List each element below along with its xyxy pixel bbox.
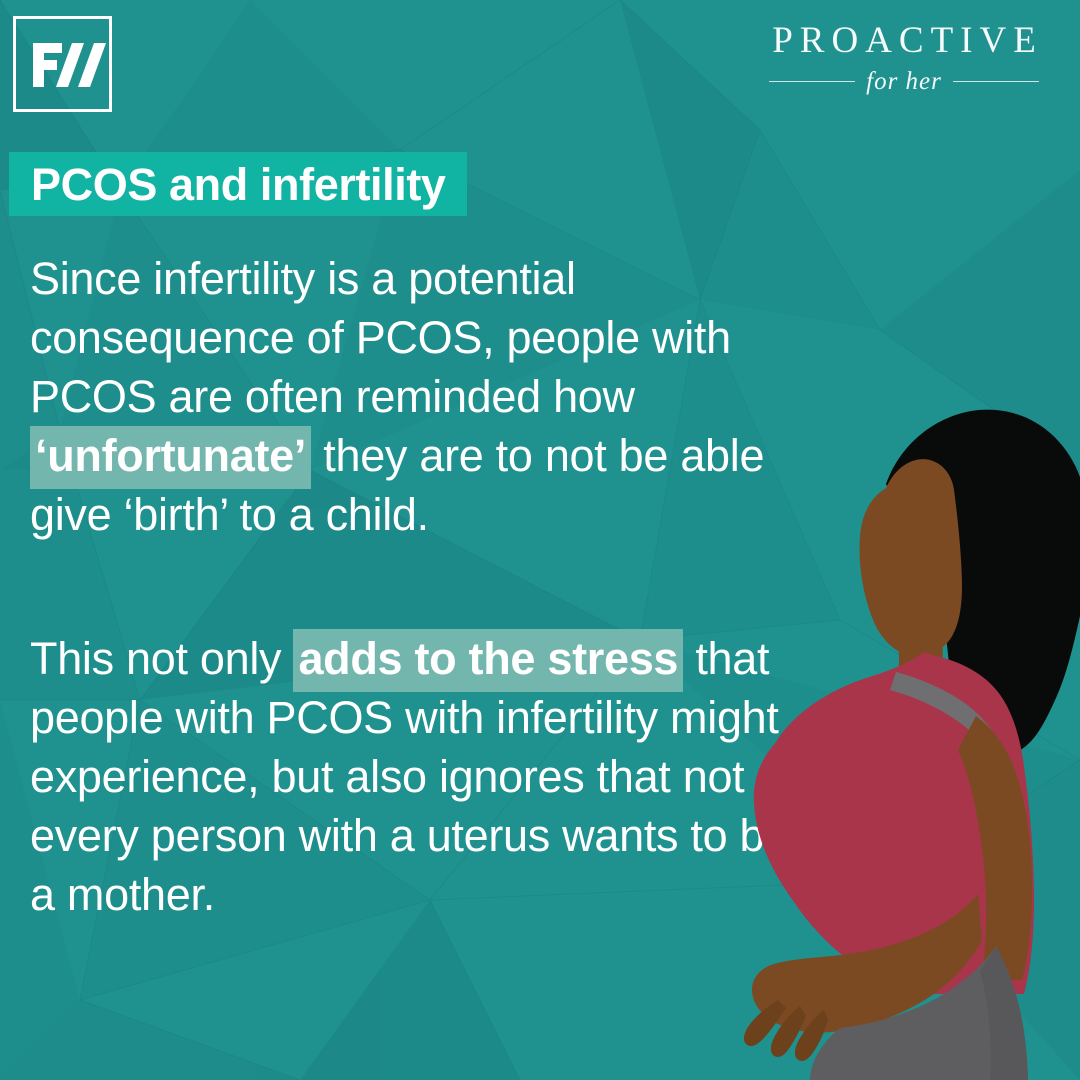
face — [859, 459, 962, 656]
paragraph-2-highlight: adds to the stress — [293, 629, 683, 692]
brand-logo: PROACTIVE for her — [754, 22, 1054, 96]
pregnant-person-icon — [690, 380, 1080, 1080]
brand-rule-left — [769, 81, 855, 82]
page-title-chip: PCOS and infertility — [9, 152, 467, 216]
fii-logo-mark — [13, 16, 112, 112]
paragraph-1-highlight: ‘unfortunate’ — [30, 426, 311, 489]
pregnant-person-illustration — [690, 380, 1080, 1080]
paragraph-2-part-1: This not only — [30, 633, 293, 684]
paragraph-1-part-1: Since infertility is a potential consequ… — [30, 253, 731, 422]
brand-tagline: for her — [866, 68, 942, 96]
brand-name: PROACTIVE — [754, 22, 1054, 61]
fii-logo-icon — [16, 19, 109, 109]
page-title: PCOS and infertility — [31, 162, 446, 207]
brand-tagline-row: for her — [754, 68, 1054, 96]
brand-rule-right — [953, 81, 1039, 82]
social-card: PROACTIVE for her PCOS and infertility S… — [0, 0, 1080, 1080]
